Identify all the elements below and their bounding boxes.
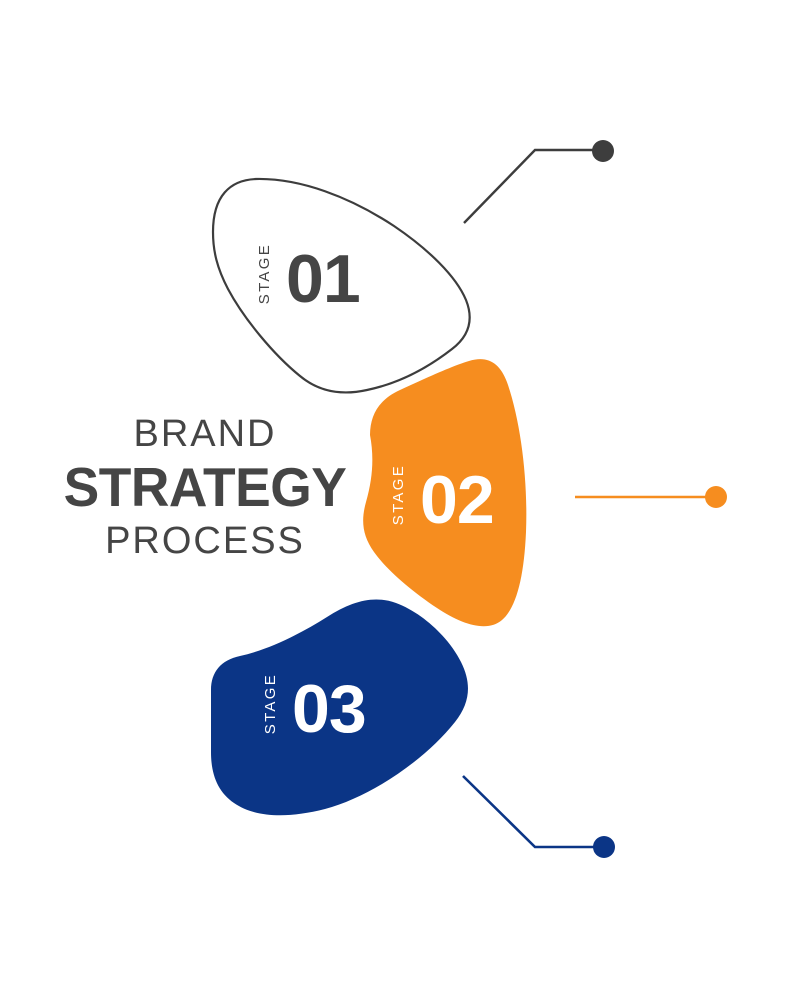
connector-bottom: [463, 776, 615, 858]
title-block: BRAND STRATEGY PROCESS: [55, 412, 355, 564]
connector-bottom-line: [463, 776, 598, 847]
title-line-process: PROCESS: [55, 518, 355, 564]
stage-01-number: 01: [286, 245, 360, 313]
connector-middle-dot: [705, 486, 727, 508]
connector-top-line: [464, 150, 597, 223]
stage-02-label: STAGE: [390, 464, 407, 525]
stage-02-number: 02: [420, 466, 494, 534]
stage-01-label: STAGE: [256, 243, 273, 304]
brand-strategy-process-infographic: BRAND STRATEGY PROCESS STAGE 01 STAGE 02…: [0, 0, 800, 1000]
title-line-strategy: STRATEGY: [60, 456, 351, 518]
stage-03-number: 03: [292, 675, 366, 743]
connector-bottom-dot: [593, 836, 615, 858]
connector-middle: [575, 486, 727, 508]
stage-03-label: STAGE: [262, 673, 279, 734]
connector-top-dot: [592, 140, 614, 162]
title-line-brand: BRAND: [55, 412, 355, 456]
connector-top: [464, 140, 614, 223]
